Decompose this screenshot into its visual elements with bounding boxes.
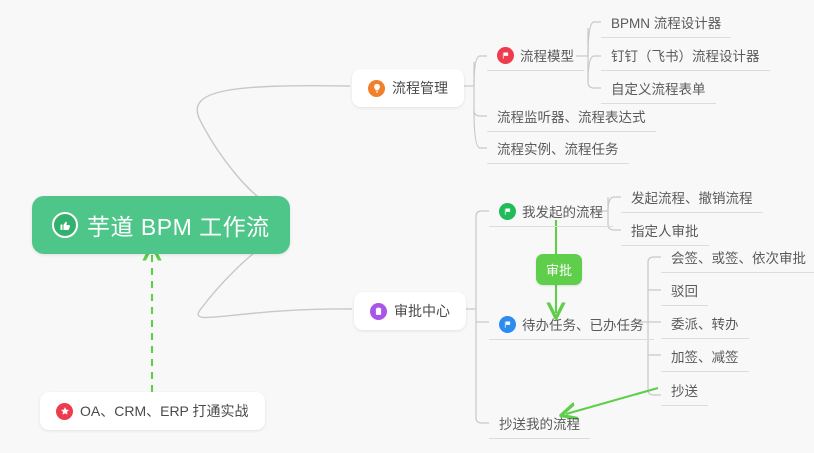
node-delegate-transfer[interactable]: 委派、转办 <box>661 309 749 339</box>
node-todo-done-tasks[interactable]: 待办任务、已办任务 <box>489 310 654 340</box>
node-cc[interactable]: 抄送 <box>661 376 708 406</box>
root-label: 芋道 BPM 工作流 <box>87 208 270 242</box>
branch-node-process-management[interactable]: 流程管理 <box>352 69 464 107</box>
lightbulb-icon <box>368 80 385 97</box>
star-icon <box>56 403 73 420</box>
node-label-instance-task: 流程实例、流程任务 <box>497 138 619 158</box>
callout-node-integration-practice[interactable]: OA、CRM、ERP 打通实战 <box>40 392 265 430</box>
node-dingtalk-feishu-designer[interactable]: 钉钉（飞书）流程设计器 <box>601 41 770 71</box>
node-countersign[interactable]: 会签、或签、依次审批 <box>661 243 814 273</box>
node-label-countersign: 会签、或签、依次审批 <box>671 247 806 267</box>
node-label-process-model: 流程模型 <box>520 45 574 65</box>
connector-todo-tasks-leg5 <box>648 390 661 395</box>
node-label-custom-process-form: 自定义流程表单 <box>611 78 706 98</box>
connector-approval-center-leg3 <box>476 418 489 423</box>
connector-process-model-spine3 <box>588 56 601 82</box>
node-my-initiated[interactable]: 我发起的流程 <box>489 197 613 227</box>
mindmap-canvas: 芋道 BPM 工作流 流程管理 流程模型 BPMN 流程设计器 钉钉（飞书）流程… <box>0 0 814 453</box>
flag-icon <box>499 316 516 333</box>
node-label-add-remove-sign: 加签、减签 <box>671 346 739 366</box>
connector-process-management-spine3 <box>474 110 487 148</box>
node-label-cc-to-me: 抄送我的流程 <box>499 413 580 433</box>
flag-icon <box>497 47 514 64</box>
node-label-my-initiated: 我发起的流程 <box>522 201 603 221</box>
flag-icon <box>499 203 516 220</box>
node-process-model[interactable]: 流程模型 <box>487 41 584 71</box>
connector-process-model-spine <box>588 28 601 88</box>
clipboard-icon <box>370 303 387 320</box>
connector-todo-tasks-leg1 <box>648 257 661 262</box>
node-label-bpmn-designer: BPMN 流程设计器 <box>611 12 721 32</box>
node-label-assignee-approval: 指定人审批 <box>631 220 699 240</box>
connector-process-management-spine <box>474 62 487 116</box>
connector-process-model-spine2 <box>588 22 601 56</box>
node-start-cancel[interactable]: 发起流程、撤销流程 <box>621 183 763 213</box>
root-node[interactable]: 芋道 BPM 工作流 <box>32 196 290 254</box>
branch-node-approval-center[interactable]: 审批中心 <box>354 292 466 330</box>
node-label-dingtalk-feishu-designer: 钉钉（飞书）流程设计器 <box>611 45 760 65</box>
connector-root-to-process-management <box>197 86 350 210</box>
node-custom-process-form[interactable]: 自定义流程表单 <box>601 74 716 104</box>
node-label-todo-done-tasks: 待办任务、已办任务 <box>522 314 644 334</box>
node-label-reject: 驳回 <box>671 280 698 300</box>
node-instance-task[interactable]: 流程实例、流程任务 <box>487 134 629 164</box>
node-listener-expression[interactable]: 流程监听器、流程表达式 <box>487 102 656 132</box>
connector-approval-center-leg1 <box>476 211 489 216</box>
node-add-remove-sign[interactable]: 加签、减签 <box>661 342 749 372</box>
connector-process-management-spine2 <box>474 56 487 86</box>
node-label-delegate-transfer: 委派、转办 <box>671 313 739 333</box>
node-label-cc: 抄送 <box>671 380 698 400</box>
node-bpmn-designer[interactable]: BPMN 流程设计器 <box>601 8 731 38</box>
callout-label-integration-practice: OA、CRM、ERP 打通实战 <box>80 401 249 421</box>
thumbs-up-icon <box>52 212 78 238</box>
node-cc-to-me[interactable]: 抄送我的流程 <box>489 409 590 439</box>
node-reject[interactable]: 驳回 <box>661 276 708 306</box>
approval-flow-badge: 审批 <box>536 254 582 285</box>
node-label-listener-expression: 流程监听器、流程表达式 <box>497 106 646 126</box>
branch-label-process-management: 流程管理 <box>392 78 448 98</box>
branch-label-approval-center: 审批中心 <box>394 301 450 321</box>
node-assignee-approval[interactable]: 指定人审批 <box>621 216 709 246</box>
node-label-start-cancel: 发起流程、撤销流程 <box>631 187 753 207</box>
